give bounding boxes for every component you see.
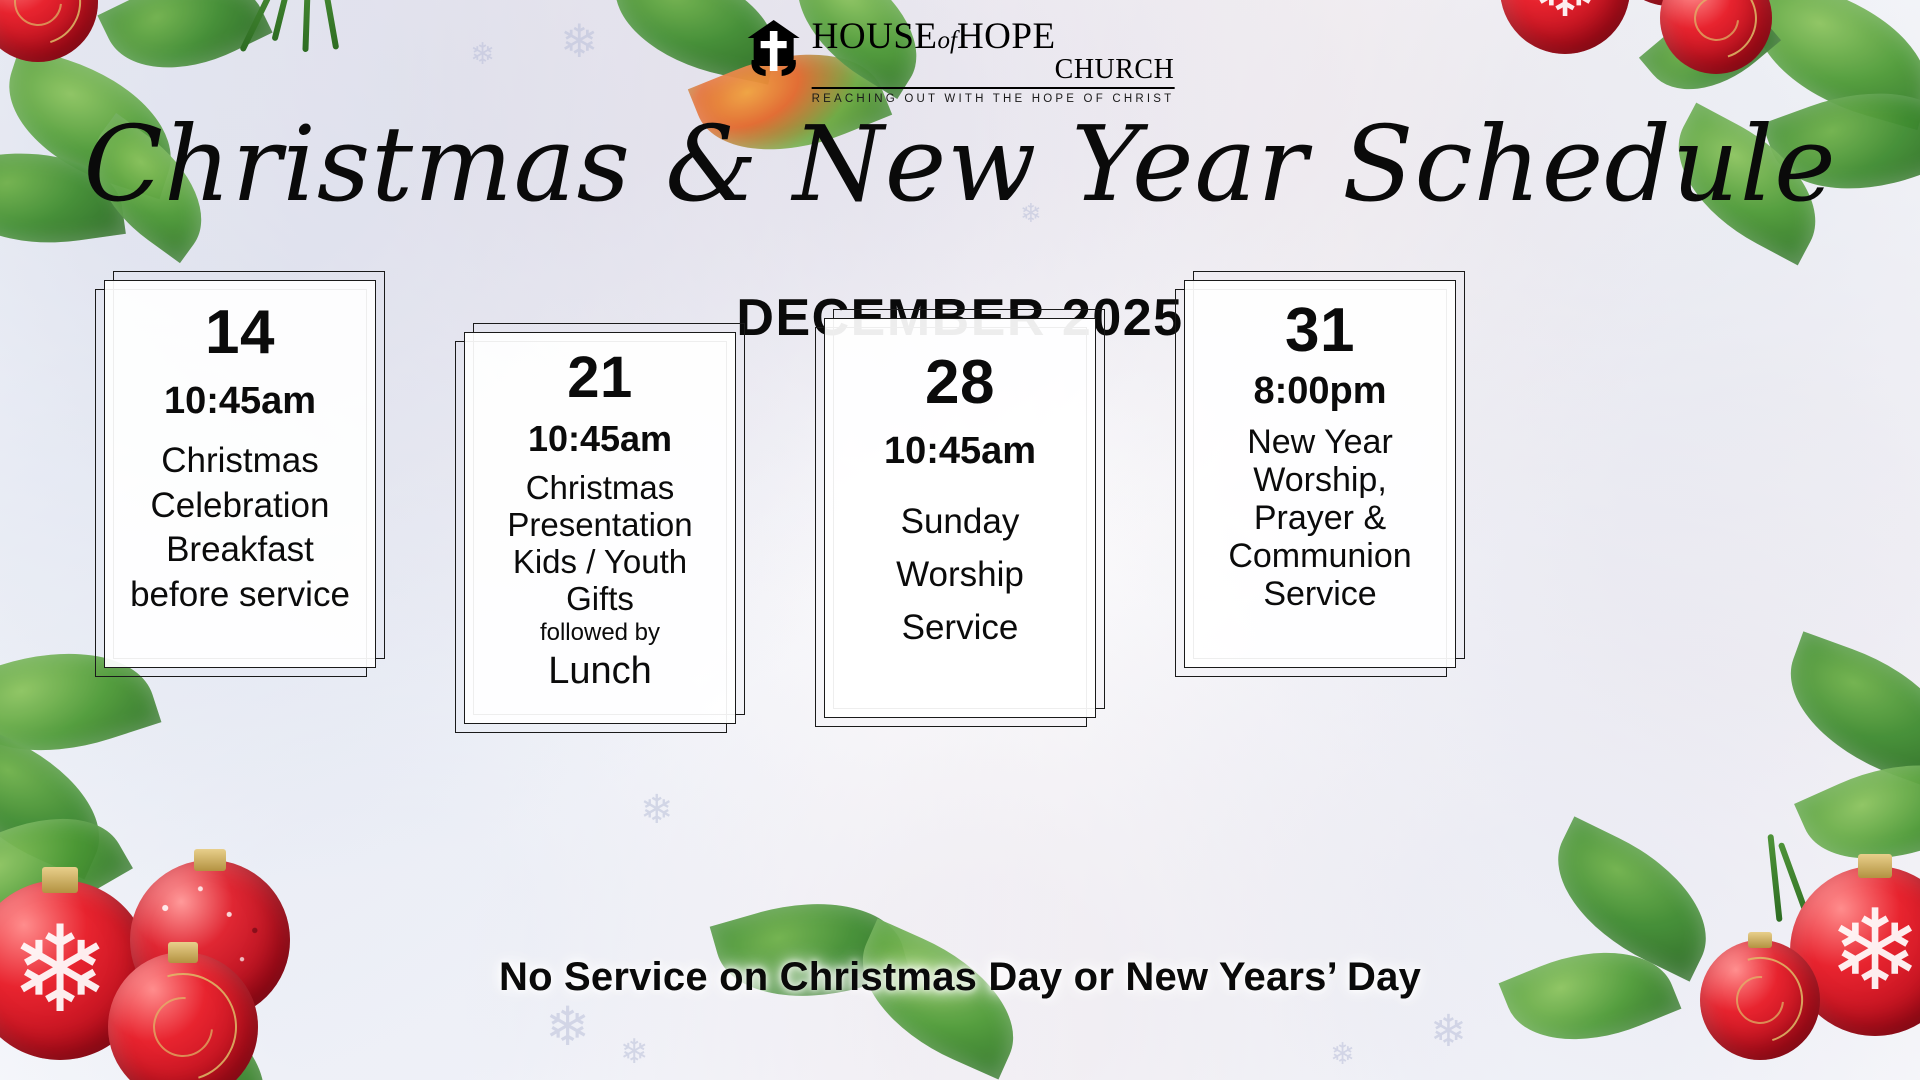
snowflake-icon: ❄ xyxy=(470,40,495,70)
card-time: 10:45am xyxy=(164,381,316,423)
footer-notice: No Service on Christmas Day or New Years… xyxy=(0,955,1920,1000)
card-time: 8:00pm xyxy=(1253,371,1386,413)
card-followup: Lunch xyxy=(548,651,652,693)
schedule-card-28[interactable]: 28 10:45am Sunday Worship Service xyxy=(824,318,1096,718)
schedule-card-14[interactable]: 14 10:45am Christmas Celebration Breakfa… xyxy=(104,280,376,668)
schedule-card-31[interactable]: 31 8:00pm New Year Worship, Prayer & Com… xyxy=(1184,280,1456,668)
christmas-schedule-poster: ❄ ❄ ❄ xyxy=(0,0,1920,1080)
card-day-number: 14 xyxy=(205,300,275,365)
page-title: Christmas & New Year Schedule xyxy=(0,112,1920,216)
decor-mid-left xyxy=(0,640,240,900)
logo-word-house: HOUSE xyxy=(812,16,938,57)
card-time: 10:45am xyxy=(528,419,672,459)
card-note: followed by xyxy=(540,620,660,646)
decor-bottom-left: ❄ xyxy=(0,820,370,1080)
church-logo[interactable]: HOUSEofHOPE CHURCH REACHING OUT WITH THE… xyxy=(746,18,1175,105)
card-day-number: 31 xyxy=(1285,298,1355,363)
logo-divider xyxy=(812,87,1175,89)
snowflake-icon: ❄ xyxy=(1330,1040,1355,1070)
card-description: Christmas Presentation Kids / Youth Gift… xyxy=(507,470,692,618)
snowflake-icon: ❄ xyxy=(545,1000,590,1054)
card-day-number: 28 xyxy=(925,350,995,415)
snowflake-icon: ❄ xyxy=(560,18,599,64)
logo-primary-name: HOUSEofHOPE xyxy=(812,18,1175,55)
house-cross-hands-icon xyxy=(746,18,802,80)
card-time: 10:45am xyxy=(884,431,1036,473)
logo-tagline: REACHING OUT WITH THE HOPE OF CHRIST xyxy=(812,93,1175,105)
snowflake-icon: ❄ xyxy=(1430,1010,1467,1054)
card-description: New Year Worship, Prayer & Communion Ser… xyxy=(1228,423,1411,613)
logo-word-church: CHURCH xyxy=(812,55,1175,84)
snowflake-icon: ❄ xyxy=(620,1035,649,1069)
schedule-card-21[interactable]: 21 10:45am Christmas Presentation Kids /… xyxy=(464,332,736,724)
logo-word-hope: HOPE xyxy=(957,16,1056,57)
card-description: Sunday Worship Service xyxy=(896,495,1024,655)
logo-word-of: of xyxy=(938,27,957,54)
decor-mid-right xyxy=(1686,660,1920,910)
card-description: Christmas Celebration Breakfast before s… xyxy=(130,439,350,618)
snowflake-icon: ❄ xyxy=(640,790,674,830)
card-day-number: 21 xyxy=(567,348,633,409)
